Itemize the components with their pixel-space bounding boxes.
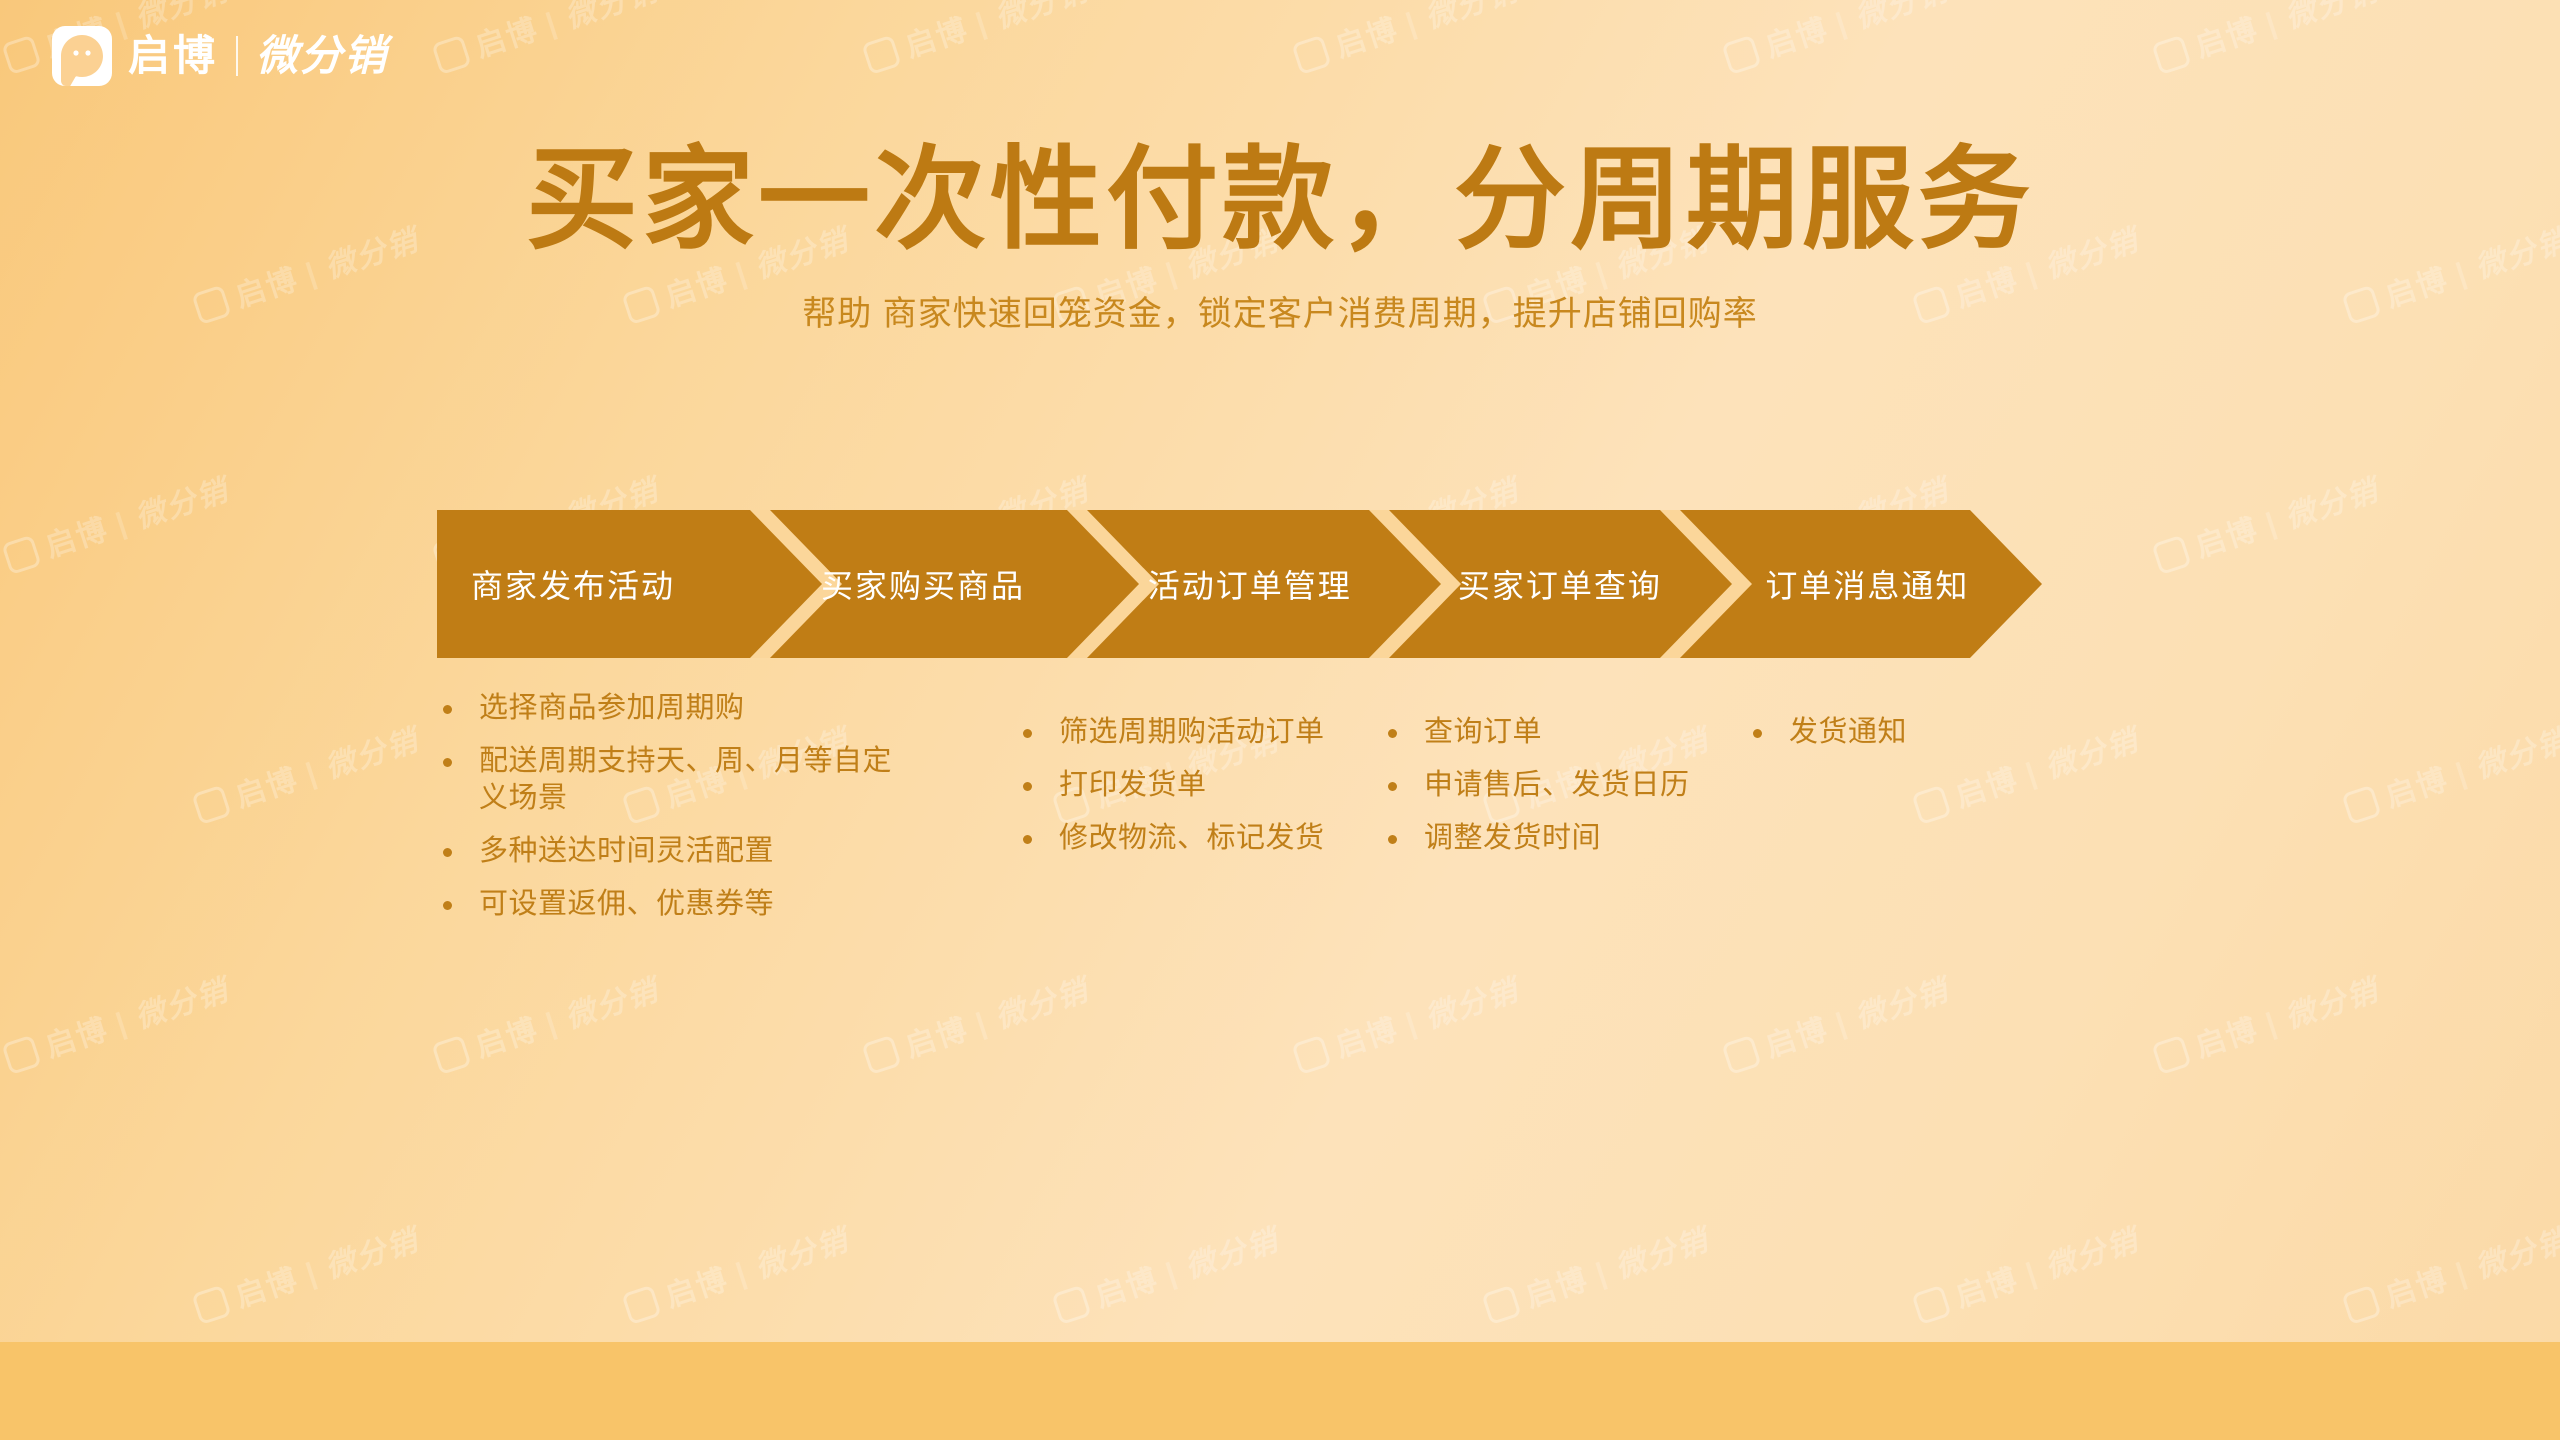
bottom-band: [0, 1342, 2560, 1440]
list-item: 配送周期支持天、周、月等自定义场景: [437, 743, 907, 817]
watermark-text: 启博|微分销: [2149, 465, 2384, 579]
watermark-text: 启博|微分销: [1289, 965, 1524, 1079]
detail-column-activity-order-manage: 筛选周期购活动订单 打印发货单 修改物流、标记发货: [1017, 690, 1347, 873]
watermark-text: 启博|微分销: [2149, 0, 2384, 79]
watermark-text: 启博|微分销: [1719, 965, 1954, 1079]
watermark-text: 启博|微分销: [189, 1215, 424, 1329]
process-flow: 商家发布活动 买家购买商品 活动订单管理 买家订单查询 订单消息通知: [437, 510, 2042, 658]
slide-canvas: 启博|微分销启博|微分销启博|微分销启博|微分销启博|微分销启博|微分销启博|微…: [0, 0, 2560, 1440]
brand-name: 启博: [128, 35, 218, 77]
watermark-text: 启博|微分销: [619, 1215, 854, 1329]
watermark-text: 启博|微分销: [1049, 1215, 1284, 1329]
list-item: 修改物流、标记发货: [1017, 820, 1347, 857]
list-item: 选择商品参加周期购: [437, 690, 907, 727]
flow-step-5[interactable]: 订单消息通知: [1737, 510, 2042, 658]
detail-column-merchant-publish: 选择商品参加周期购 配送周期支持天、周、月等自定义场景 多种送达时间灵活配置 可…: [437, 690, 907, 940]
list-item: 调整发货时间: [1382, 820, 1702, 857]
watermark-text: 启博|微分销: [0, 965, 234, 1079]
list-item: 可设置返佣、优惠券等: [437, 886, 907, 923]
watermark-text: 启博|微分销: [1909, 1215, 2144, 1329]
flow-step-4-label: 买家订单查询: [1458, 561, 1662, 607]
watermark-text: 启博|微分销: [859, 965, 1094, 1079]
watermark-text: 启博|微分销: [2149, 965, 2384, 1079]
flow-step-2-label: 买家购买商品: [821, 561, 1025, 607]
watermark-text: 启博|微分销: [1289, 0, 1524, 79]
flow-step-1[interactable]: 商家发布活动: [437, 510, 797, 658]
qibo-face-logo-icon: [52, 26, 112, 86]
flow-step-1-label: 商家发布活动: [471, 561, 675, 607]
flow-step-3-label: 活动订单管理: [1148, 561, 1352, 607]
list-item: 多种送达时间灵活配置: [437, 833, 907, 870]
watermark-text: 启博|微分销: [2339, 715, 2560, 829]
flow-step-labels: 商家发布活动 买家购买商品 活动订单管理 买家订单查询 订单消息通知: [437, 510, 2042, 658]
watermark-text: 启博|微分销: [1719, 0, 1954, 79]
brand-sub-name: 微分销: [256, 35, 388, 77]
flow-step-2[interactable]: 买家购买商品: [797, 510, 1138, 658]
watermark-text: 启博|微分销: [429, 0, 664, 79]
list-item: 筛选周期购活动订单: [1017, 714, 1347, 751]
watermark-text: 启博|微分销: [1479, 1215, 1714, 1329]
flow-step-4[interactable]: 买家订单查询: [1444, 510, 1737, 658]
watermark-text: 启博|微分销: [189, 715, 424, 829]
watermark-text: 启博|微分销: [2339, 1215, 2560, 1329]
list-item: 打印发货单: [1017, 767, 1347, 804]
brand-divider: [236, 36, 238, 76]
watermark-text: 启博|微分销: [429, 965, 664, 1079]
page-subtitle: 帮助 商家快速回笼资金，锁定客户消费周期，提升店铺回购率: [0, 291, 2560, 339]
flow-step-3[interactable]: 活动订单管理: [1138, 510, 1444, 658]
flow-step-5-label: 订单消息通知: [1765, 561, 1969, 607]
brand-logo: 启博 微分销: [52, 26, 388, 86]
headline-block: 买家一次性付款，分周期服务 帮助 商家快速回笼资金，锁定客户消费周期，提升店铺回…: [0, 136, 2560, 338]
list-item: 发货通知: [1747, 714, 2047, 751]
detail-column-order-message-notice: 发货通知: [1747, 690, 2047, 767]
page-title: 买家一次性付款，分周期服务: [0, 136, 2560, 265]
watermark-text: 启博|微分销: [859, 0, 1094, 79]
detail-column-buyer-order-query: 查询订单 申请售后、发货日历 调整发货时间: [1382, 690, 1702, 873]
list-item: 申请售后、发货日历: [1382, 767, 1702, 804]
watermark-text: 启博|微分销: [0, 465, 234, 579]
list-item: 查询订单: [1382, 714, 1702, 751]
